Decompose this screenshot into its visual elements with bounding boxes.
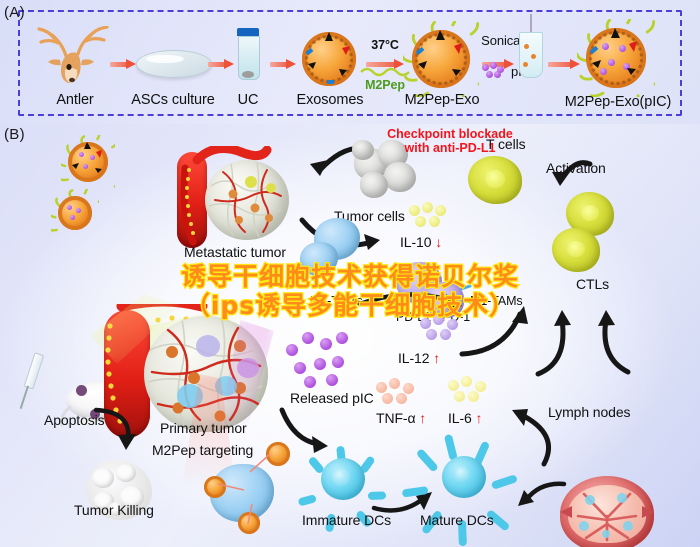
arrow-to-ctls-left — [534, 304, 580, 378]
m2pep-exosome-particle — [412, 30, 470, 88]
panel-a: Antler ASCs culture UC — [0, 0, 700, 124]
dc-nucleus — [332, 468, 350, 486]
pic-cargo — [67, 205, 72, 210]
syringe-needle — [20, 386, 29, 409]
arrow-m2-to-m1-polarization — [358, 290, 468, 314]
il6-cytokine-cluster — [448, 376, 490, 406]
tumor-cell — [360, 172, 388, 198]
label-il12: IL-12 ↑ — [398, 350, 440, 366]
il12-cytokine-cluster — [420, 314, 462, 344]
m2-tam-macrophage — [300, 242, 338, 276]
panel-a-label-ascs: ASCs culture — [128, 92, 218, 108]
label-primary-tumor: Primary tumor — [160, 420, 247, 436]
label-lymph-nodes: Lymph nodes — [548, 404, 630, 420]
panel-a-label-antler: Antler — [36, 92, 114, 108]
tube-pellet — [242, 71, 254, 78]
label-apoptosis: Apoptosis — [44, 412, 105, 428]
label-tumor-killing: Tumor Killing — [74, 502, 154, 518]
metastatic-tumor-illustration — [175, 146, 295, 256]
panel-b-tag: (B) — [4, 126, 25, 143]
label-tnfa: TNF-α ↑ — [376, 410, 426, 426]
arrow-culture-to-uc — [208, 60, 234, 69]
tnfa-up-arrow: ↑ — [419, 410, 426, 426]
panel-a-label-temperature: 37°C — [362, 38, 408, 52]
pic-particle-cluster — [482, 62, 506, 78]
sonication-particle — [524, 44, 529, 49]
panel-a-label-m2pep-exo: M2Pep-Exo — [396, 92, 488, 108]
tumor-cell — [352, 140, 374, 160]
label-il10: IL-10 ↓ — [400, 234, 442, 250]
injected-exosome — [68, 142, 108, 182]
label-released-pic: Released pIC — [290, 390, 374, 406]
m2pep-exo-pic-particle — [586, 28, 646, 88]
il10-text: IL-10 — [400, 234, 431, 250]
panel-a-label-uc: UC — [222, 92, 274, 108]
panel-a-label-exosomes: Exosomes — [296, 92, 364, 108]
immature-dc — [312, 450, 374, 508]
lymph-node-illustration — [560, 476, 654, 547]
t-cell — [468, 156, 522, 204]
label-il6: IL-6 ↑ — [448, 410, 482, 426]
arrow-il12-to-ctls — [458, 304, 538, 360]
ultracentrifuge-tube — [237, 28, 259, 86]
tumor-cell — [384, 162, 416, 192]
arrow-to-ctls-right — [594, 304, 640, 376]
exosome-particle — [302, 32, 356, 86]
ctl-cell — [552, 228, 600, 272]
antler-deer-illustration — [32, 26, 120, 88]
pic-cargo — [70, 215, 75, 220]
sonication-particle — [531, 54, 536, 59]
label-t-cells: T cells — [486, 136, 526, 152]
arrow-antler-to-culture — [110, 60, 136, 69]
injection-syringe — [15, 352, 44, 414]
metastatic-tumor-mass — [205, 160, 289, 240]
tnfa-cytokine-cluster — [376, 378, 418, 408]
il6-text: IL-6 — [448, 410, 472, 426]
il10-down-arrow: ↓ — [435, 234, 442, 250]
exosome-membrane — [58, 196, 92, 230]
label-ctls: CTLs — [576, 276, 609, 292]
label-m2-tams: M2-TAMs — [310, 294, 363, 308]
released-pic-cluster — [286, 332, 350, 386]
sonication-probe — [530, 14, 532, 32]
dc-dendrite — [298, 494, 317, 506]
injected-exosome — [58, 196, 92, 230]
mature-dc — [428, 442, 500, 510]
pic-cargo — [76, 208, 81, 213]
syringe-barrel — [24, 352, 45, 389]
arrow-sonication-to-final — [548, 60, 580, 69]
panel-a-tag: (A) — [4, 4, 25, 21]
apoptotic-fragment — [116, 464, 136, 482]
dc-dendrite — [416, 448, 439, 473]
label-metastatic-tumor: Metastatic tumor — [184, 244, 286, 260]
dc-nucleus — [454, 466, 470, 482]
checkpoint-line-2: with anti-PD-L1 — [405, 141, 496, 155]
tube-cap — [237, 28, 259, 36]
panel-b: Metastatic tumor Tumor cells Checkpoint … — [0, 124, 700, 547]
scientific-figure: Antler ASCs culture UC — [0, 0, 700, 547]
label-mature-dcs: Mature DCs — [420, 512, 494, 528]
sonication-particle — [523, 62, 528, 67]
sonication-tube — [517, 22, 543, 88]
arrow-uc-to-exosomes — [270, 60, 296, 69]
panel-a-label-m2pep-exo-pic: M2Pep-Exo(pIC) — [556, 94, 680, 110]
il12-text: IL-12 — [398, 350, 429, 366]
il10-cytokine-cluster — [409, 202, 449, 230]
ascs-culture-dish — [136, 50, 212, 78]
il6-up-arrow: ↑ — [476, 410, 483, 426]
apoptotic-fragment — [92, 468, 114, 488]
il12-up-arrow: ↑ — [433, 350, 440, 366]
label-activation: Activation — [546, 160, 606, 176]
tnfa-text: TNF-α — [376, 410, 415, 426]
